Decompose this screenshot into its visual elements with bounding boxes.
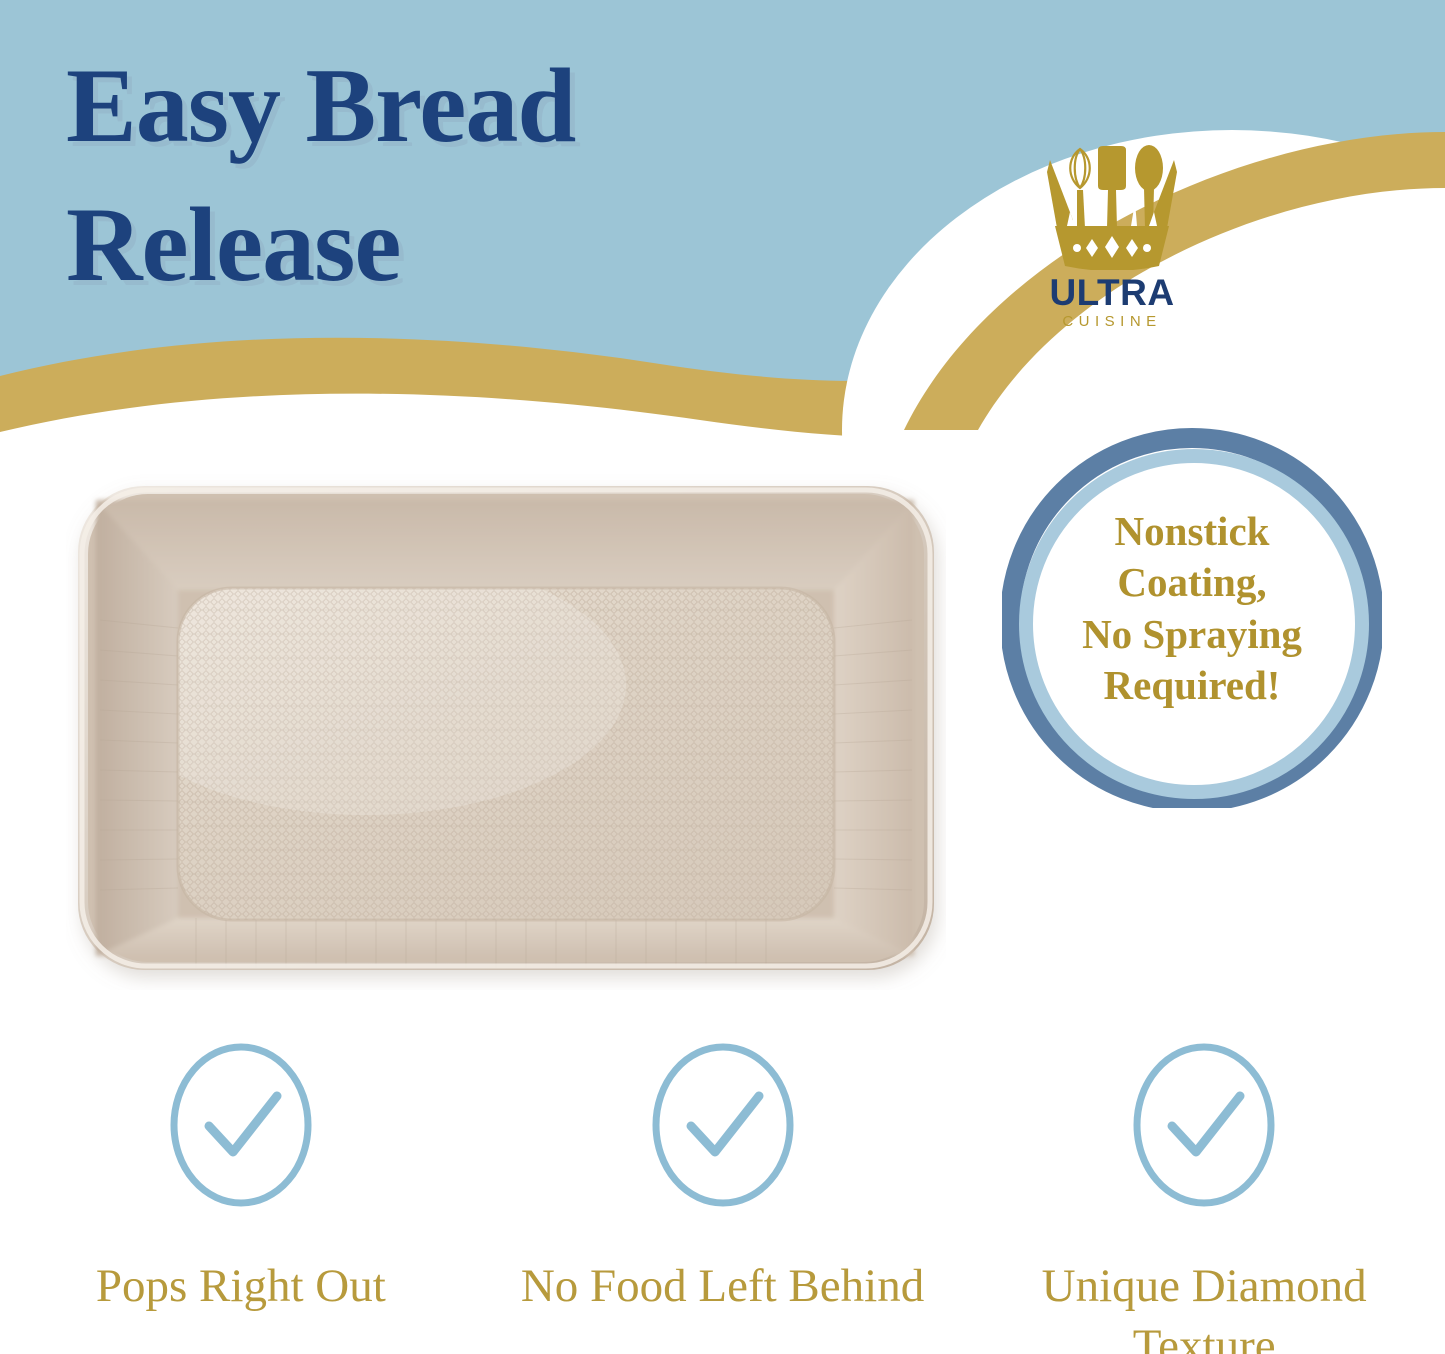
feature-label: No Food Left Behind: [496, 1256, 950, 1316]
feature-item-no-food-left-behind: No Food Left Behind: [482, 1040, 964, 1354]
pan-diamond-base: [106, 555, 834, 920]
brand-sub-wordmark: CUISINE: [1022, 314, 1202, 329]
feature-label: Pops Right Out: [14, 1256, 468, 1316]
badge-line-2: Coating,: [1046, 557, 1338, 608]
check-circle-icon: [647, 1040, 799, 1210]
badge-line-1: Nonstick: [1046, 506, 1338, 557]
headline-line-2: Release: [66, 167, 866, 324]
brand-wordmark: ULTRA: [1022, 274, 1202, 311]
brand-logo: ULTRA CUISINE: [1022, 142, 1202, 329]
page-title: Easy Bread Release: [66, 28, 866, 324]
crown-utensils-icon: [1037, 142, 1187, 270]
product-image: [66, 470, 946, 990]
feature-label: Unique Diamond Texture: [977, 1256, 1431, 1354]
check-circle-icon: [165, 1040, 317, 1210]
feature-item-unique-diamond-texture: Unique Diamond Texture: [963, 1040, 1445, 1354]
badge-line-3: No Spraying: [1046, 609, 1338, 660]
status-badge: Nonstick Coating, No Spraying Required!: [1002, 428, 1382, 808]
features-row: Pops Right Out No Food Left Behind Uniqu…: [0, 1040, 1445, 1354]
product-marketing-image: Easy Bread Release: [0, 0, 1445, 1354]
badge-text: Nonstick Coating, No Spraying Required!: [1046, 506, 1338, 711]
badge-line-4: Required!: [1046, 660, 1338, 711]
feature-item-pops-right-out: Pops Right Out: [0, 1040, 482, 1354]
headline-line-1: Easy Bread: [66, 28, 866, 185]
check-circle-icon: [1128, 1040, 1280, 1210]
